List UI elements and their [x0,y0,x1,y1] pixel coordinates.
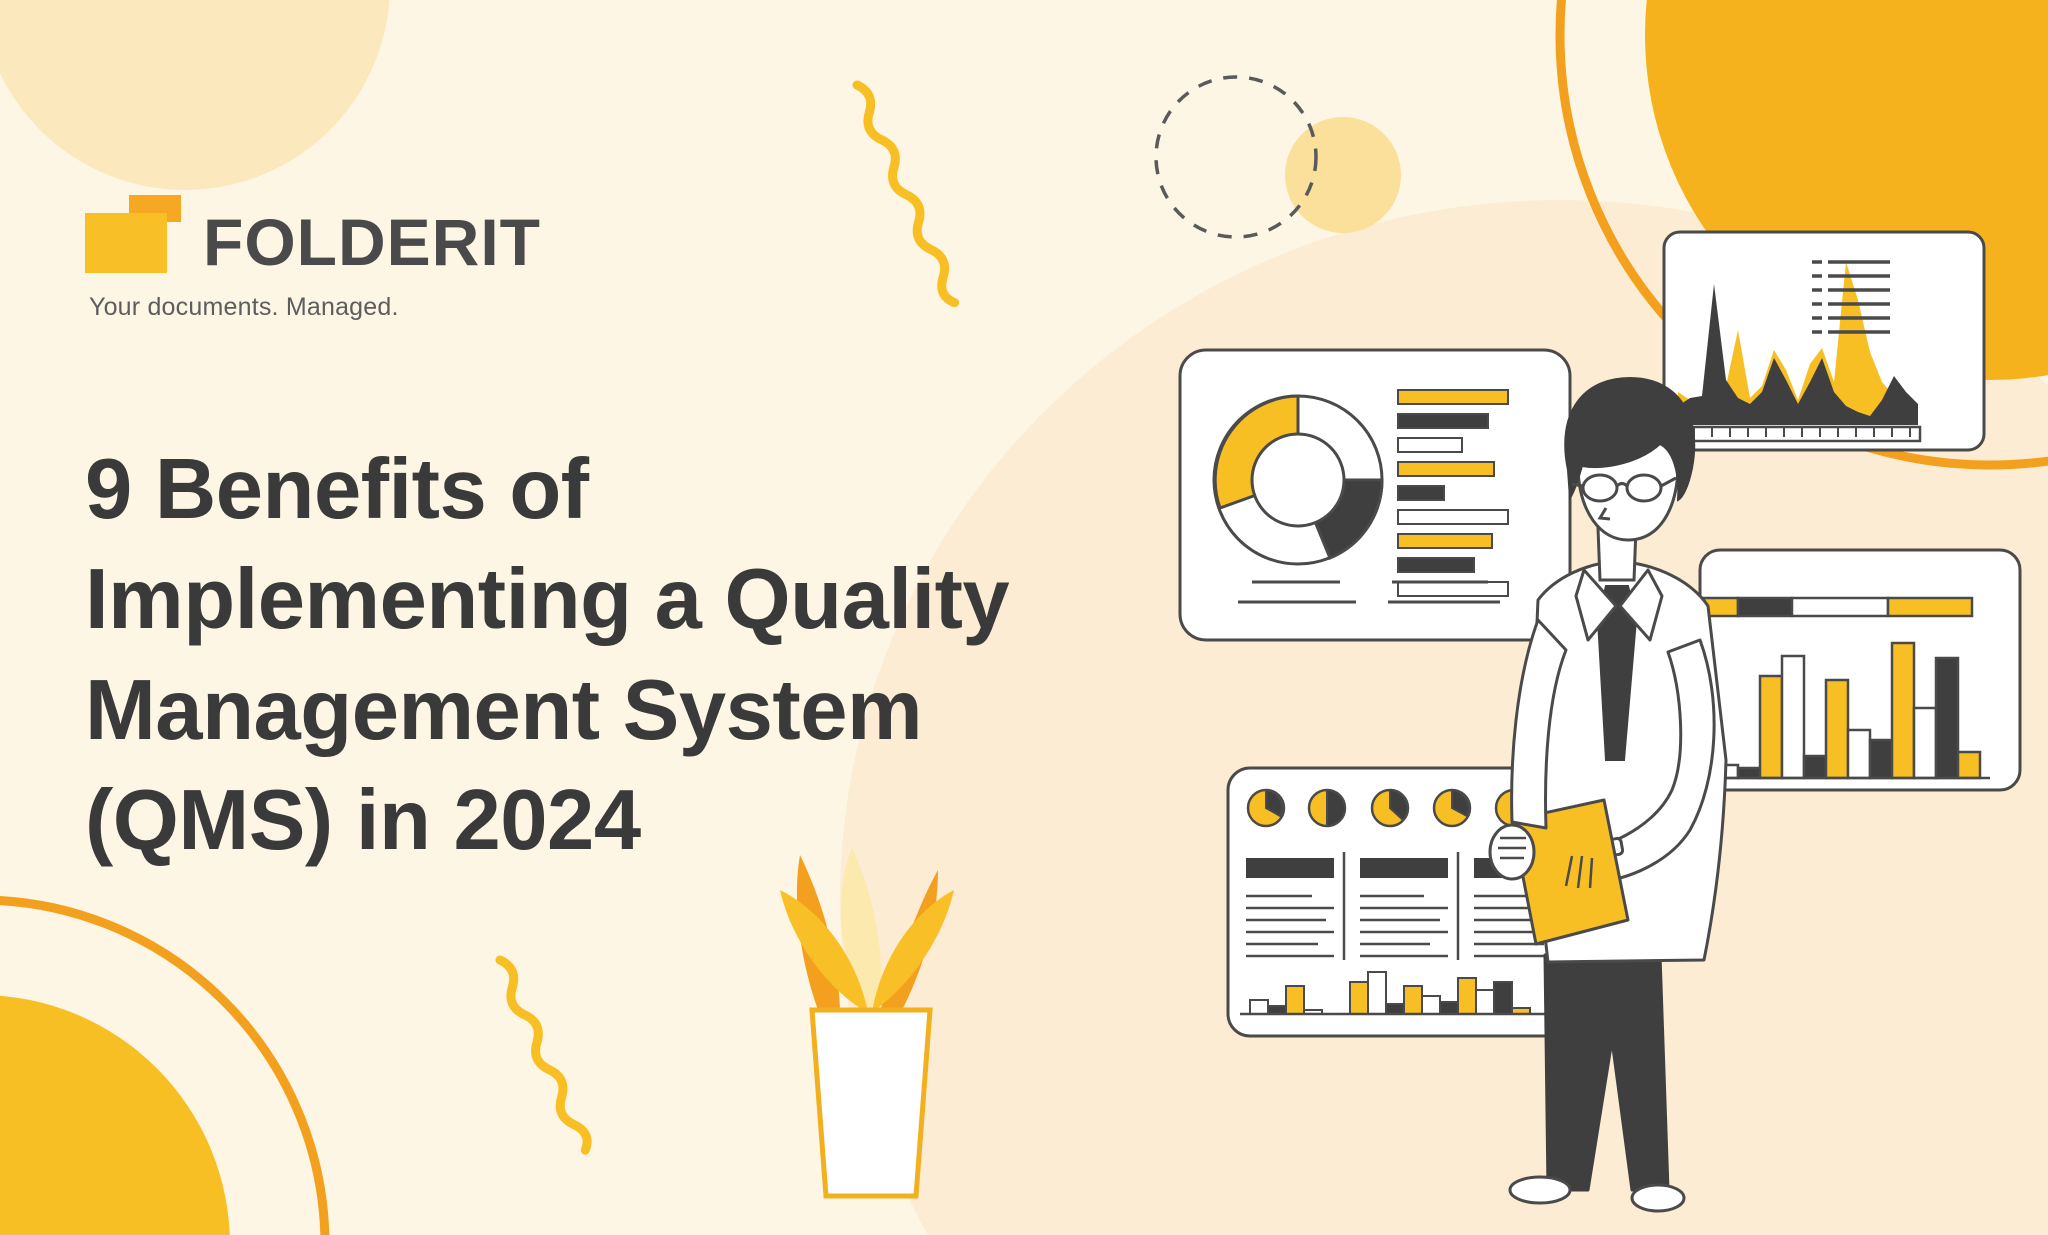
page-title: 9 Benefits of Implementing a Quality Man… [85,435,1095,877]
mini-bar [1286,986,1304,1014]
mini-bar [1422,996,1440,1014]
person-hand-left [1490,825,1534,879]
bar [1870,740,1892,778]
folder-body [85,213,167,273]
potted-plant [780,848,954,1196]
bar [1914,708,1936,778]
donut-hole [1252,434,1344,526]
mini-bar [1250,1000,1268,1014]
legend-bar [1398,438,1462,452]
mini-bar [1458,978,1476,1014]
bar [1804,756,1826,778]
mini-bar [1476,990,1494,1014]
person-trousers [1545,955,1668,1190]
folder-icon [85,195,181,273]
mini-bar [1404,986,1422,1014]
pie-chart [1434,790,1470,826]
headline-line-3: Management System [85,656,1095,767]
plant-pot [812,1010,930,1196]
banner-canvas: FOLDERIT Your documents. Managed. 9 Bene… [0,0,2048,1235]
bar [1782,656,1804,778]
logo-row: FOLDERIT [85,195,541,273]
bar [1848,730,1870,778]
person-shoe-right [1632,1185,1684,1211]
legend-bar [1398,534,1492,548]
mini-bar [1440,1002,1458,1014]
brand-tagline: Your documents. Managed. [89,293,541,322]
mini-bar [1386,1004,1404,1014]
legend-bar [1398,462,1494,476]
bar [1958,752,1980,778]
headline-line-4: (QMS) in 2024 [85,766,1095,877]
legend-bar [1398,558,1474,572]
pie-chart [1248,790,1284,826]
legend-bar [1398,486,1444,500]
area-chart-card[interactable] [1664,232,1984,450]
column-header [1246,858,1334,878]
mini-bar [1494,982,1512,1014]
column-header [1360,858,1448,878]
legend-bar [1398,390,1508,404]
mini-bar [1350,982,1368,1014]
legend-bar [1398,510,1508,524]
bar-chart-card[interactable] [1690,550,2020,790]
pie-chart [1372,790,1408,826]
bar-card-header [1690,598,1972,616]
donut-chart-card[interactable] [1180,350,1570,640]
brand-logo[interactable]: FOLDERIT Your documents. Managed. [85,195,541,322]
bar [1760,676,1782,778]
legend-bar [1398,414,1488,428]
headline-line-2: Implementing a Quality [85,545,1095,656]
brand-wordmark: FOLDERIT [203,212,541,273]
legend-bar [1398,582,1508,596]
header-segment [1792,598,1888,616]
bar [1936,658,1958,778]
header-segment [1888,598,1972,616]
pie-chart [1309,790,1345,826]
bar [1892,643,1914,778]
bar [1826,680,1848,778]
person-shoe-left [1510,1177,1570,1203]
plant-leaf-front-right [872,890,954,1012]
header-segment [1738,598,1792,616]
headline-line-1: 9 Benefits of [85,435,1095,546]
mini-bar [1368,972,1386,1014]
bar [1738,768,1760,778]
